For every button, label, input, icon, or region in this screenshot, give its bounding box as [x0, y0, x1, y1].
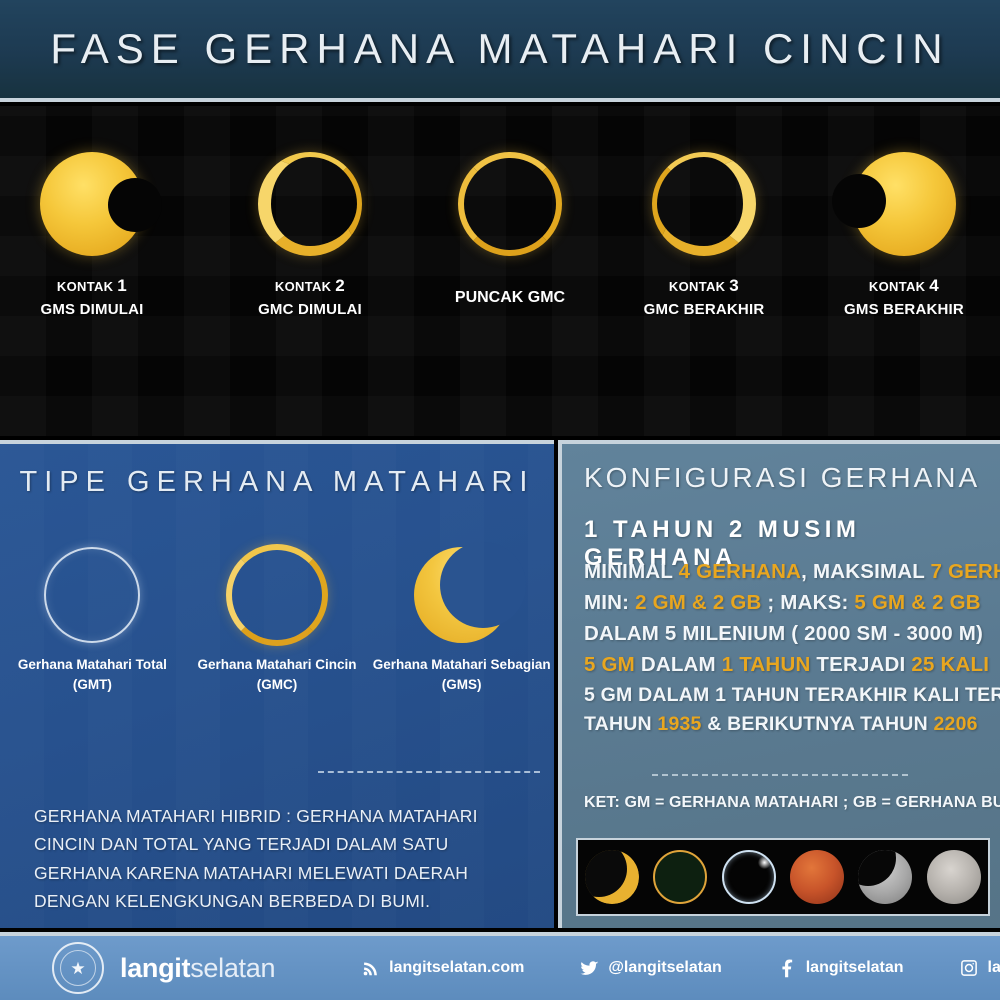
- page-footer: ★ langitselatan langitselatan.com @langi…: [0, 932, 1000, 1000]
- eclipse-type-label-gms: Gerhana Matahari Sebagian(GMS): [369, 655, 554, 696]
- eclipse-configuration-panel: KONFIGURASI GERHANA 1 TAHUN 2 MUSIM GERH…: [558, 440, 1000, 928]
- brand-block[interactable]: ★ langitselatan: [52, 942, 275, 994]
- phase-graphic-4: [604, 144, 804, 264]
- configuration-fact-2: MIN: 2 GM & 2 GB ; MAKS: 5 GM & 2 GB: [584, 587, 994, 618]
- eclipse-type-gmc: Gerhana Matahari Cincin(GMC): [185, 539, 370, 696]
- annular-ring-icon: [458, 152, 562, 256]
- phase-desc-4: GMC BERAKHIR: [604, 299, 804, 321]
- thumbnail-penumbral-lunar-eclipse: [927, 850, 981, 904]
- langitselatan-logo-icon: ★: [52, 942, 104, 994]
- thumbnail-partial-lunar-eclipse: [858, 850, 912, 904]
- social-label-website: langitselatan.com: [389, 959, 524, 977]
- rss-icon: [361, 959, 380, 978]
- annular-ring-icon: [652, 152, 756, 256]
- hybrid-eclipse-paragraph: GERHANA MATAHARI HIBRID : GERHANA MATAHA…: [34, 802, 534, 915]
- instagram-icon: [960, 959, 979, 978]
- page-title: FASE GERHANA MATAHARI CINCIN: [50, 25, 949, 73]
- moon-bite-icon: [108, 178, 162, 232]
- phase-graphic-5: [804, 144, 1000, 264]
- brand-wordmark: langitselatan: [120, 953, 275, 984]
- social-label-instagram: langitselatanmedia: [988, 959, 1000, 977]
- eclipse-type-gms: Gerhana Matahari Sebagian(GMS): [369, 539, 554, 696]
- eclipse-type-label-gmc: Gerhana Matahari Cincin(GMC): [185, 655, 370, 696]
- thumbnail-total-lunar-eclipse: [790, 850, 844, 904]
- gold-ring-icon: [226, 544, 328, 646]
- phase-graphic-2: [210, 144, 410, 264]
- phase-item-1: KONTAK 1 GMS DIMULAI: [0, 144, 192, 320]
- phase-kontak-label-4: KONTAK 3: [604, 274, 804, 299]
- right-panel-divider: [652, 774, 908, 776]
- social-label-facebook: langitselatan: [806, 959, 904, 977]
- eclipse-phase-strip: KONTAK 1 GMS DIMULAI KONTAK 2 GMC DIMULA…: [0, 106, 1000, 436]
- configuration-fact-1: MINIMAL 4 GERHANA, MAKSIMAL 7 GERHANA: [584, 556, 994, 587]
- moon-bite-icon: [832, 174, 886, 228]
- social-link-twitter[interactable]: @langitselatan: [580, 959, 721, 978]
- facebook-icon: [778, 959, 797, 978]
- left-panel-divider: [318, 771, 540, 773]
- configuration-fact-6: TAHUN 1935 & BERIKUTNYA TAHUN 2206: [584, 710, 994, 740]
- eclipse-type-gmt: Gerhana Matahari Total(GMT): [0, 539, 185, 696]
- phase-item-4: KONTAK 3 GMC BERAKHIR: [604, 144, 804, 320]
- configuration-fact-3: DALAM 5 MILENIUM ( 2000 SM - 3000 M): [584, 618, 994, 649]
- phase-desc-2: GMC DIMULAI: [210, 299, 410, 321]
- phase-graphic-3: [410, 144, 610, 264]
- thumbnail-partial-solar-eclipse: [585, 850, 639, 904]
- social-link-facebook[interactable]: langitselatan: [778, 959, 904, 978]
- corona-ring-icon: [44, 547, 140, 643]
- eclipse-types-panel: TIPE GERHANA MATAHARI Gerhana Matahari T…: [0, 440, 554, 928]
- phase-kontak-label-5: KONTAK 4: [804, 274, 1000, 299]
- eclipse-photo-strip: [576, 838, 990, 916]
- eclipse-types-list: Gerhana Matahari Total(GMT) Gerhana Mata…: [0, 539, 554, 696]
- phase-desc-3: PUNCAK GMC: [410, 286, 610, 309]
- configuration-legend: KET: GM = GERHANA MATAHARI ; GB = GERHAN…: [584, 794, 1000, 812]
- social-label-twitter: @langitselatan: [608, 959, 721, 977]
- phase-graphic-1: [0, 144, 192, 264]
- phase-item-3: PUNCAK GMC: [410, 144, 610, 309]
- social-link-instagram[interactable]: langitselatanmedia: [960, 959, 1000, 978]
- eclipse-type-label-gmt: Gerhana Matahari Total(GMT): [0, 655, 185, 696]
- phase-item-2: KONTAK 2 GMC DIMULAI: [210, 144, 410, 320]
- twitter-icon: [580, 959, 599, 978]
- phase-item-5: KONTAK 4 GMS BERAKHIR: [804, 144, 1000, 320]
- phase-desc-5: GMS BERAKHIR: [804, 299, 1000, 321]
- page-header: FASE GERHANA MATAHARI CINCIN: [0, 0, 1000, 102]
- eclipse-types-title: TIPE GERHANA MATAHARI: [0, 466, 554, 499]
- infographic-page: FASE GERHANA MATAHARI CINCIN KONTAK 1 GM…: [0, 0, 1000, 1000]
- thumbnail-annular-solar-eclipse: [653, 850, 707, 904]
- phase-kontak-label-1: KONTAK 1: [0, 274, 192, 299]
- crescent-sun-icon: [414, 547, 510, 643]
- configuration-facts-list: MINIMAL 4 GERHANA, MAKSIMAL 7 GERHANAMIN…: [584, 556, 994, 740]
- social-links: langitselatan.com @langitselatan langits…: [361, 959, 1000, 978]
- social-link-website[interactable]: langitselatan.com: [361, 959, 524, 978]
- configuration-title: KONFIGURASI GERHANA: [584, 462, 980, 494]
- configuration-fact-5: 5 GM DALAM 1 TAHUN TERAKHIR KALI TERJADI: [584, 681, 994, 711]
- phase-kontak-label-2: KONTAK 2: [210, 274, 410, 299]
- configuration-fact-4: 5 GM DALAM 1 TAHUN TERJADI 25 KALI: [584, 649, 994, 680]
- annular-ring-icon: [258, 152, 362, 256]
- phase-desc-1: GMS DIMULAI: [0, 299, 192, 321]
- thumbnail-total-solar-eclipse: [722, 850, 776, 904]
